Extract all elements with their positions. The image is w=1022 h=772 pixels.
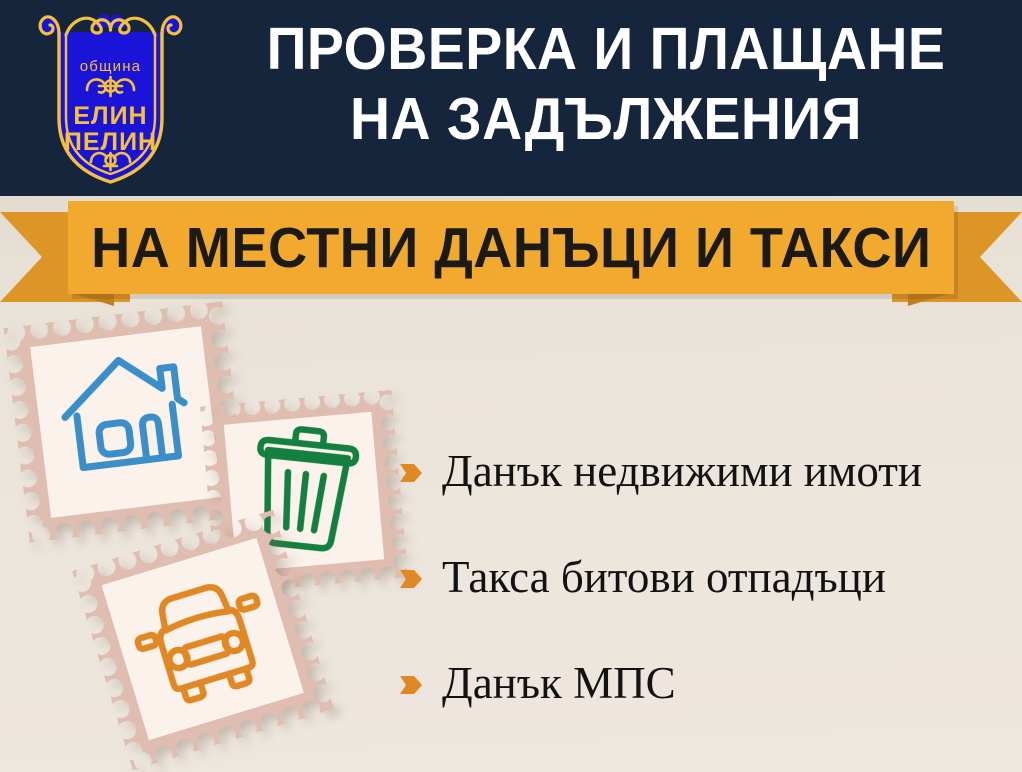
- list-item[interactable]: Данък недвижими имоти: [398, 418, 1018, 524]
- list-item[interactable]: Данък МПС: [398, 630, 1018, 736]
- poster-canvas: община ЕЛИН ПЕЛИН: [0, 0, 1022, 772]
- elin-pelin-coat-of-arms-icon: община ЕЛИН ПЕЛИН: [33, 8, 188, 188]
- list-item-label: Данък недвижими имоти: [442, 446, 922, 496]
- subtitle-ribbon: НА МЕСТНИ ДАНЪЦИ И ТАКСИ: [0, 196, 1022, 306]
- arrow-pennant-icon: [398, 672, 424, 698]
- ribbon-band: НА МЕСТНИ ДАНЪЦИ И ТАКСИ: [68, 201, 954, 294]
- header-bar: община ЕЛИН ПЕЛИН: [0, 0, 1022, 196]
- svg-text:община: община: [80, 58, 141, 75]
- ribbon-subtitle: НА МЕСТНИ ДАНЪЦИ И ТАКСИ: [91, 219, 931, 277]
- list-item-label: Такса битови отпадъци: [442, 552, 886, 602]
- header-inner: община ЕЛИН ПЕЛИН: [0, 0, 1022, 196]
- page-title: ПРОВЕРКА И ПЛАЩАНЕ НА ЗАДЪЛЖЕНИЯ: [221, 14, 992, 154]
- list-item-label: Данък МПС: [442, 658, 676, 708]
- arrow-pennant-icon: [398, 566, 424, 592]
- service-list: Данък недвижими имоти Такса битови отпад…: [398, 418, 1018, 736]
- list-item[interactable]: Такса битови отпадъци: [398, 524, 1018, 630]
- page-title-line-1: ПРОВЕРКА И ПЛАЩАНЕ: [221, 14, 992, 84]
- arrow-pennant-icon: [398, 460, 424, 486]
- svg-text:ЕЛИН: ЕЛИН: [73, 102, 147, 130]
- page-title-line-2: НА ЗАДЪЛЖЕНИЯ: [221, 84, 992, 154]
- municipality-logo: община ЕЛИН ПЕЛИН: [33, 8, 188, 188]
